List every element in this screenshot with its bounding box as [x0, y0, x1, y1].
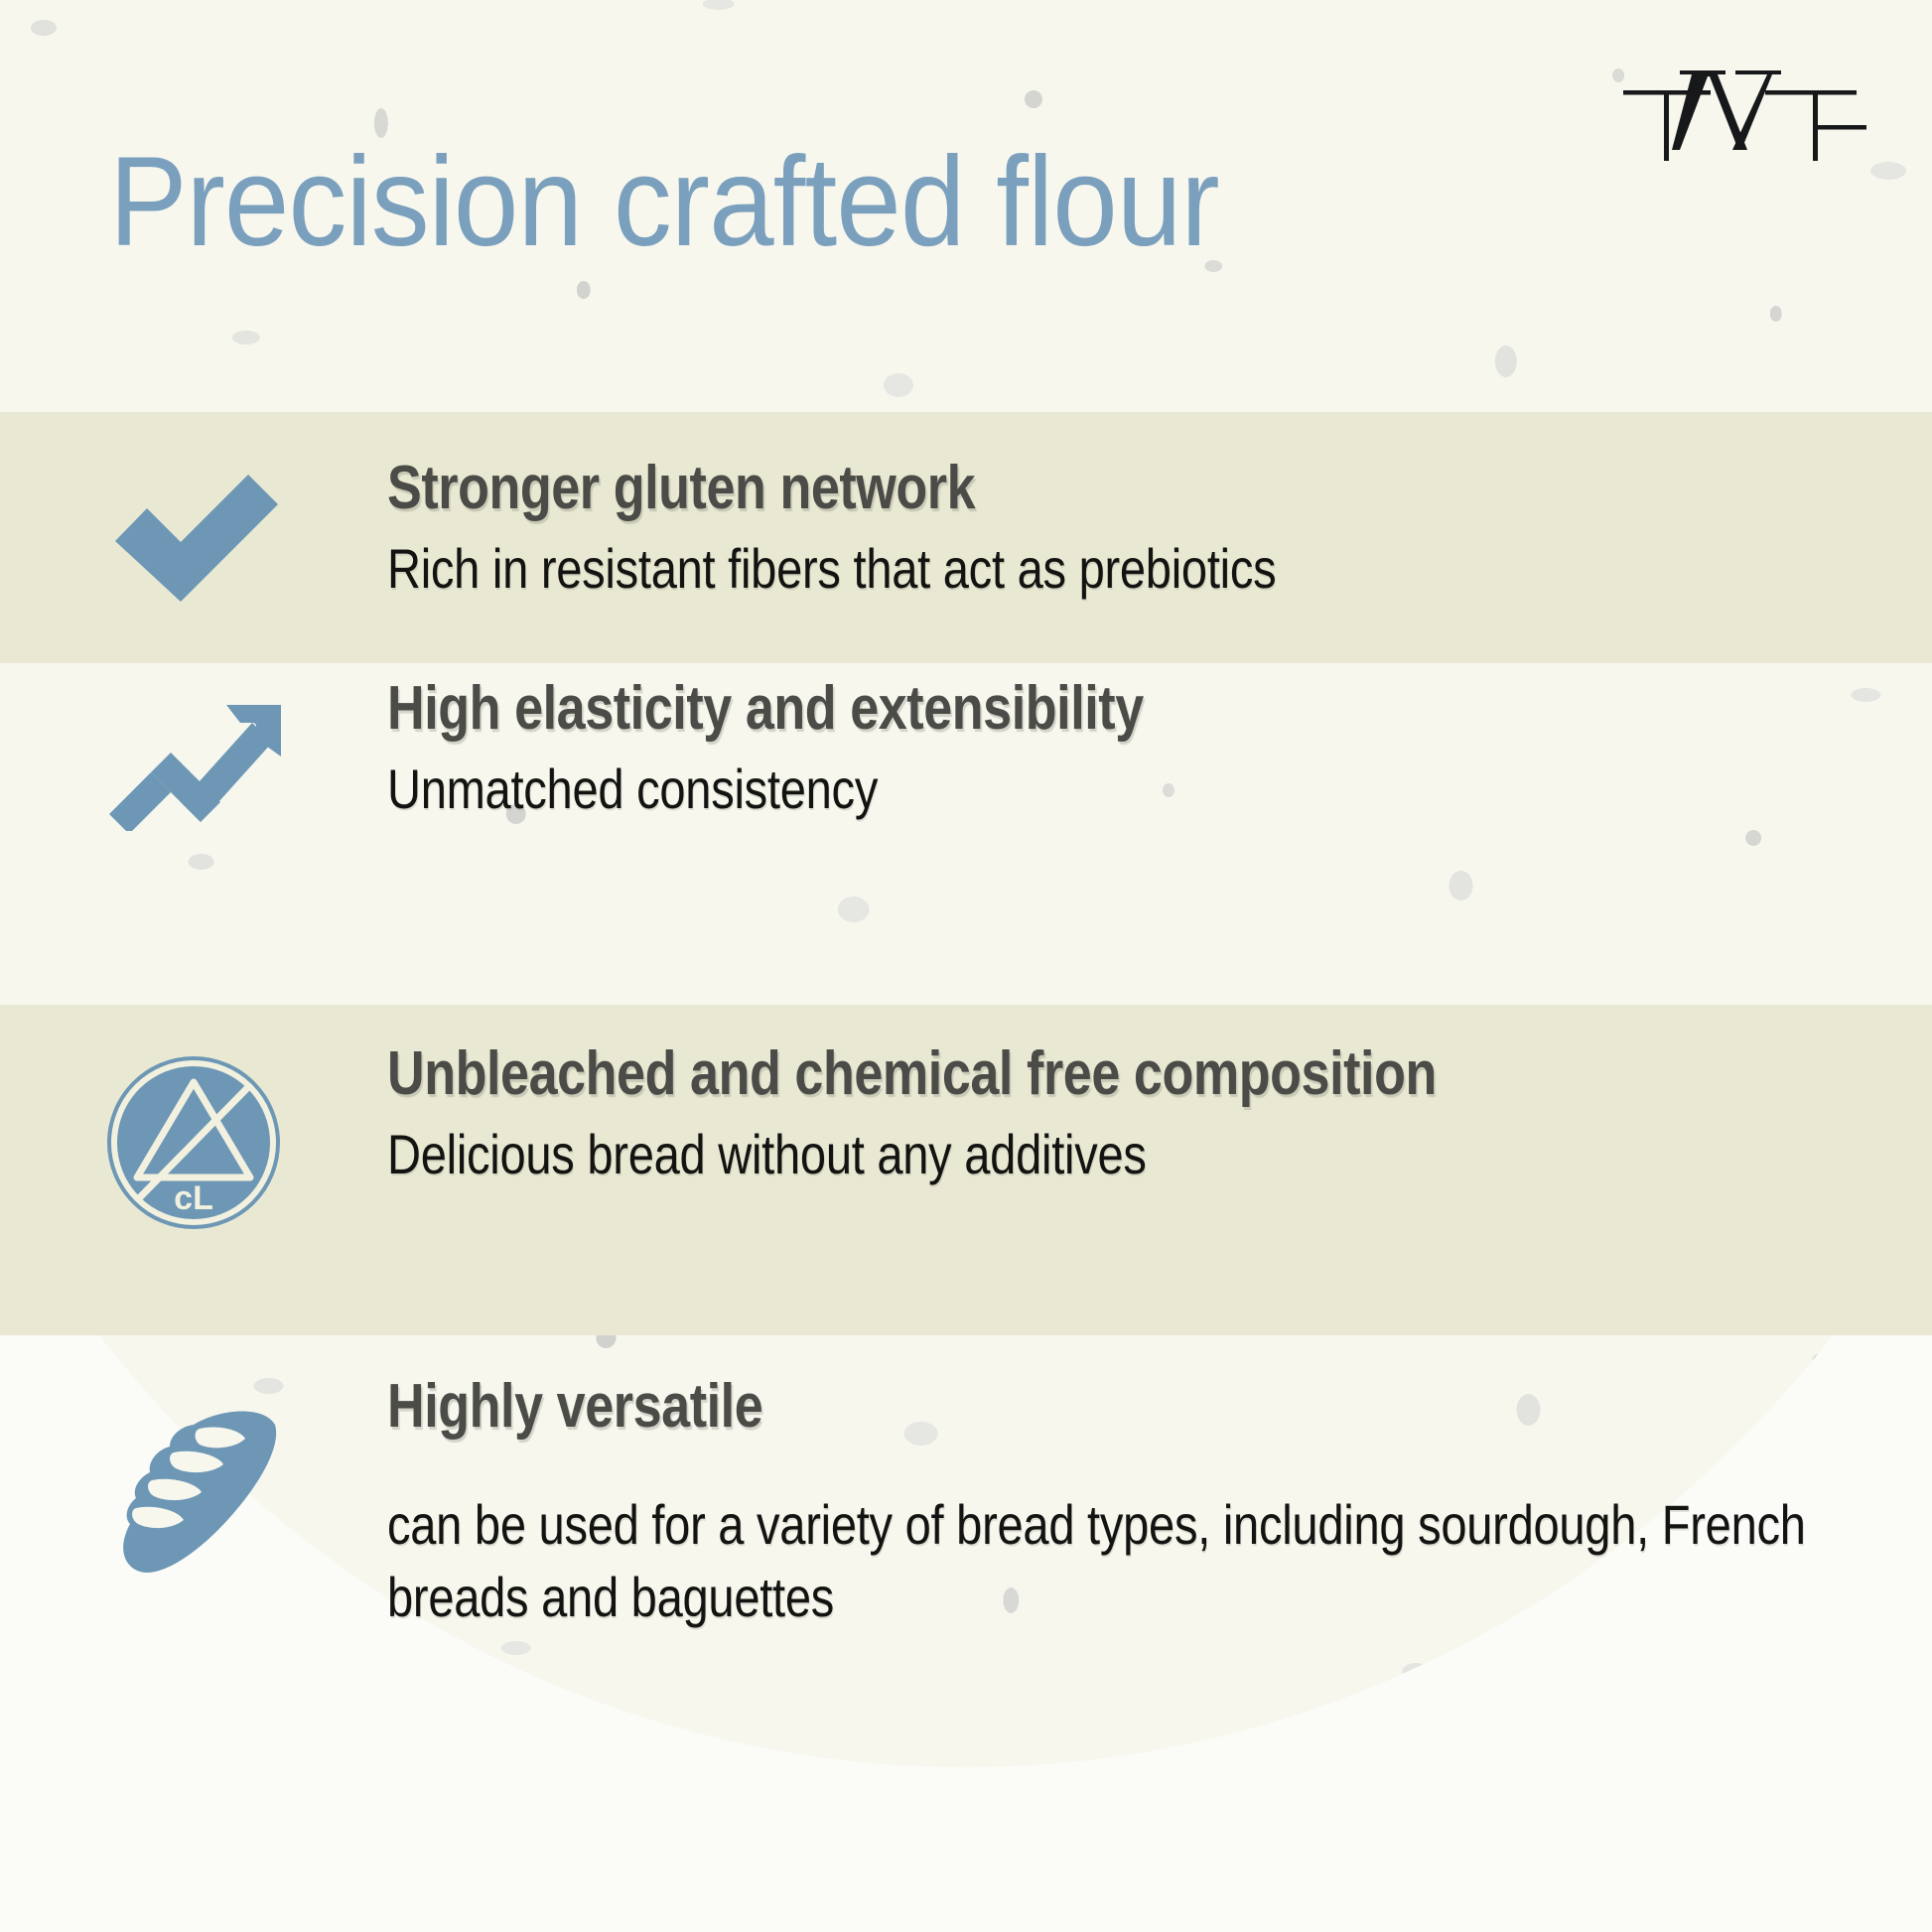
feature-row-1: Stronger gluten network Rich in resistan… [0, 457, 1932, 606]
feature-icon-cell-2 [0, 677, 387, 831]
feature-text-cell-3: Unbleached and chemical free composition… [387, 1042, 1932, 1191]
feature-icon-cell-1 [0, 457, 387, 604]
feature-title-3: Unbleached and chemical free composition [387, 1042, 1635, 1105]
feature-text-cell-2: High elasticity and extensibility Unmatc… [387, 677, 1932, 826]
page-title: Precision crafted flour [109, 139, 1219, 266]
feature-icon-cell-4 [0, 1375, 387, 1581]
poster-canvas: Precision crafted flour Stronger gluten … [0, 0, 1932, 1932]
feature-subtitle-2: Unmatched consistency [387, 754, 1871, 826]
feature-row-3: cL Unbleached and chemical free composit… [0, 1042, 1932, 1233]
feature-row-4: Highly versatile can be used for a varie… [0, 1375, 1932, 1634]
feature-title-4: Highly versatile [387, 1375, 1635, 1438]
bread-baguette-icon [104, 1407, 283, 1581]
no-bleach-icon-label: cL [174, 1179, 213, 1217]
feature-subtitle-3: Delicious bread without any additives [387, 1119, 1871, 1191]
twf-monogram-icon [1618, 42, 1866, 161]
trending-up-arrow-icon [107, 697, 281, 831]
feature-title-2: High elasticity and extensibility [387, 677, 1635, 740]
check-icon [109, 475, 278, 604]
feature-subtitle-1: Rich in resistant fibers that act as pre… [387, 533, 1871, 606]
feature-text-cell-4: Highly versatile can be used for a varie… [387, 1375, 1932, 1634]
feature-title-1: Stronger gluten network [387, 457, 1635, 519]
feature-subtitle-4: can be used for a variety of bread types… [387, 1489, 1871, 1634]
feature-icon-cell-3: cL [0, 1042, 387, 1233]
no-bleach-icon: cL [103, 1052, 284, 1233]
feature-text-cell-1: Stronger gluten network Rich in resistan… [387, 457, 1932, 606]
feature-row-2: High elasticity and extensibility Unmatc… [0, 677, 1932, 831]
